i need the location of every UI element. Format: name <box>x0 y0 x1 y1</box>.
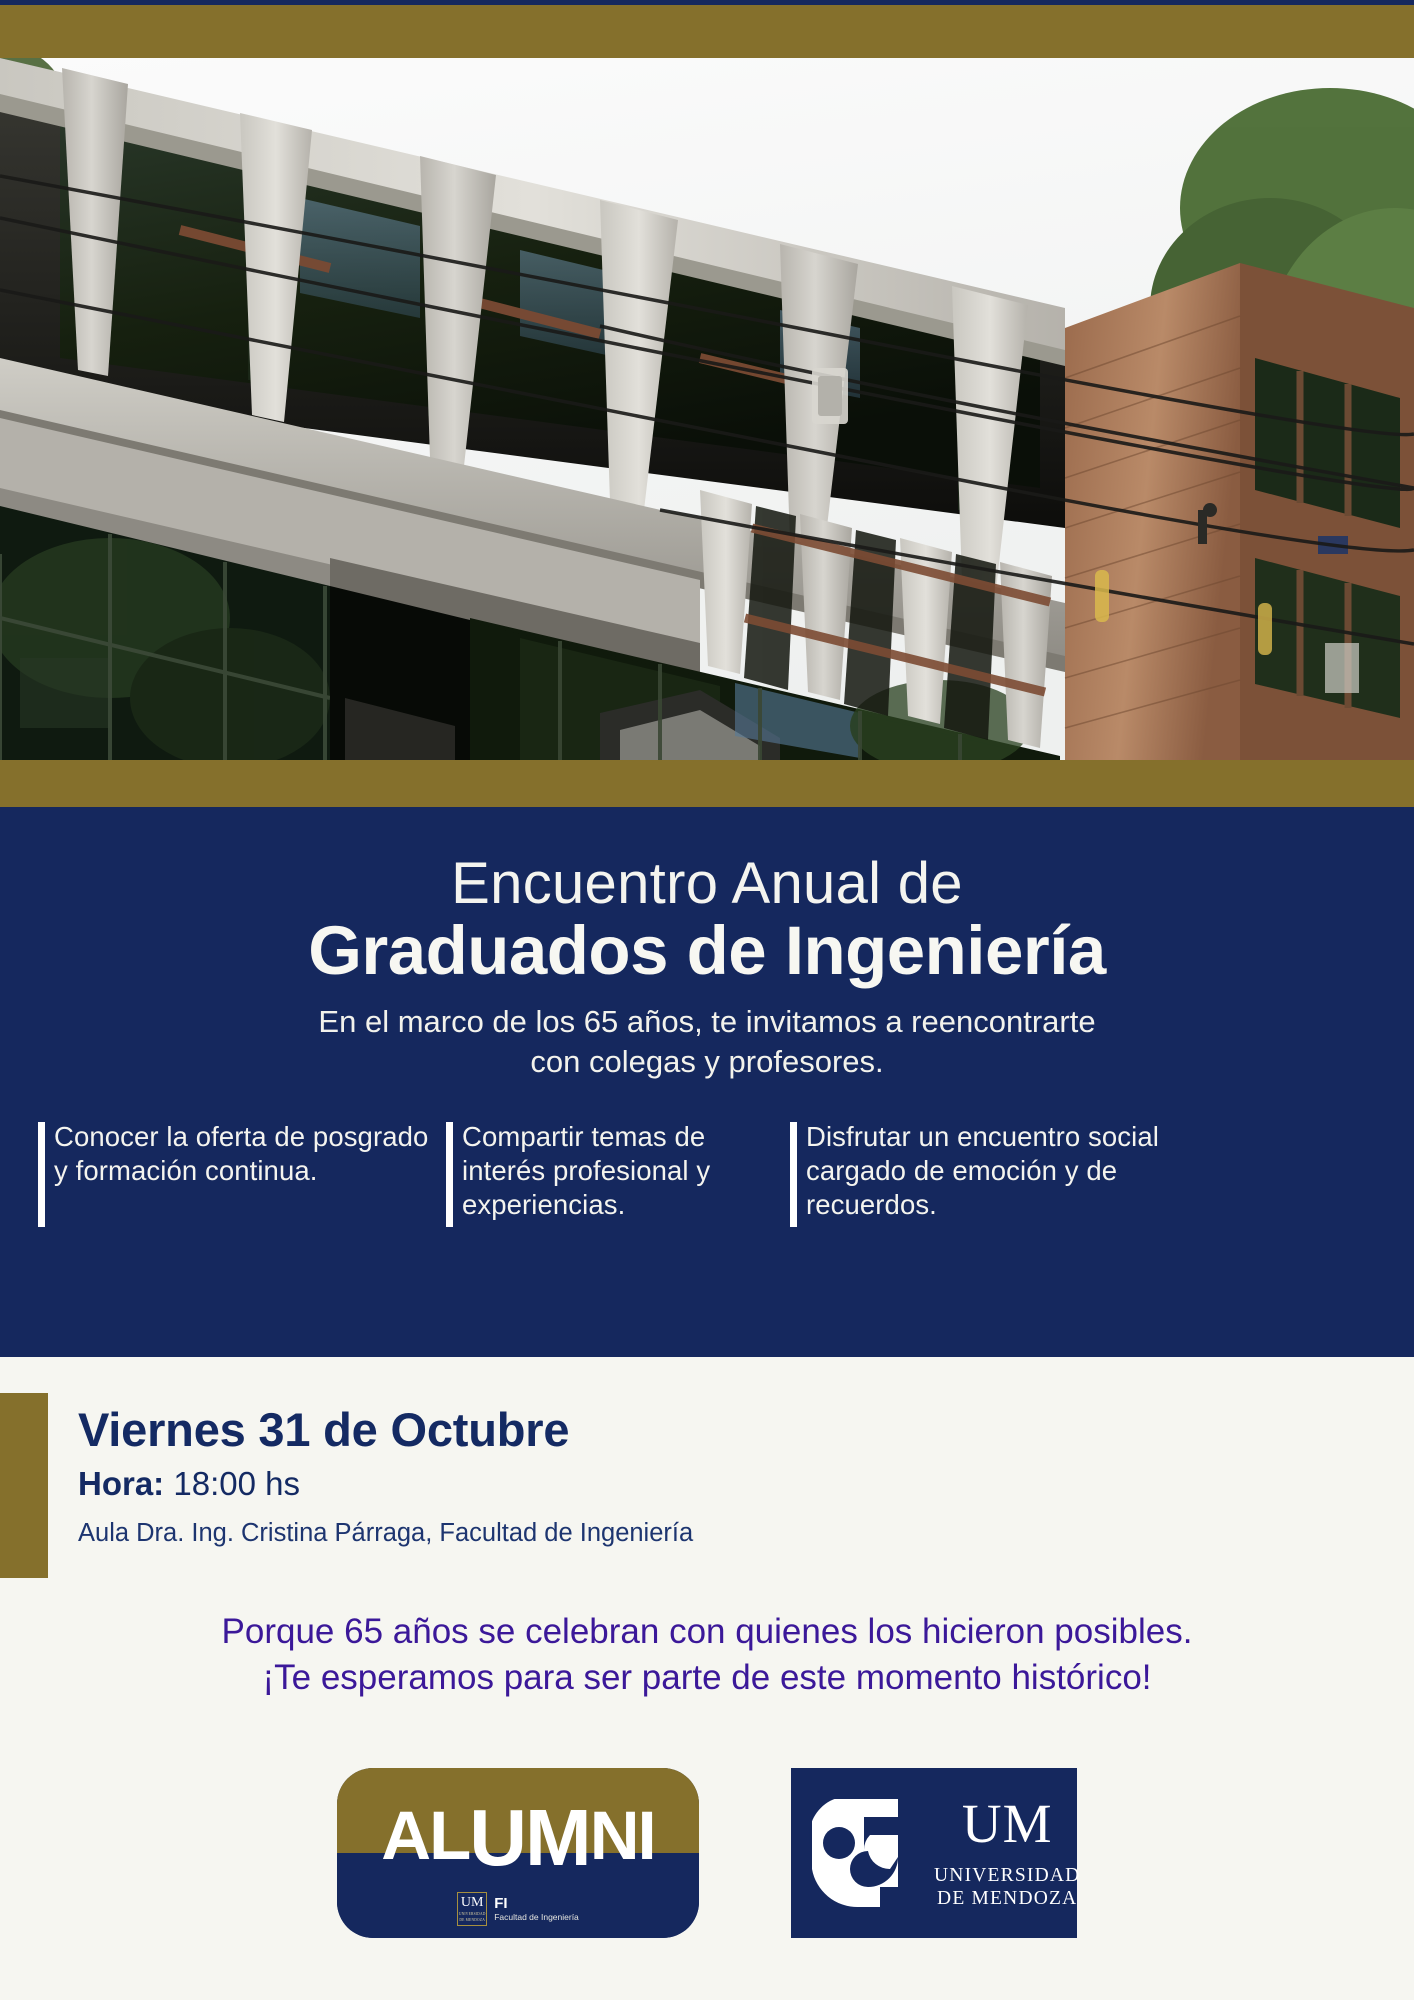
alumni-word-prefix: AL <box>381 1797 469 1874</box>
benefit-item: Conocer la oferta de posgrado y formació… <box>30 1120 438 1222</box>
faculty-block: FI Facultad de Ingeniería <box>494 1896 579 1922</box>
faculty-name: Facultad de Ingeniería <box>494 1912 579 1922</box>
event-time: Hora: 18:00 hs <box>78 1466 300 1502</box>
closing-line2: ¡Te esperamos para ser parte de este mom… <box>0 1655 1414 1701</box>
benefit-text: Conocer la oferta de posgrado y formació… <box>54 1120 438 1188</box>
benefit-rule <box>446 1122 453 1227</box>
bottom-gold-band <box>0 760 1414 807</box>
benefit-item: Compartir temas de interés profesional y… <box>438 1120 782 1222</box>
um-line2: DE MENDOZA <box>934 1888 1080 1910</box>
um-line1: UNIVERSIDAD <box>934 1865 1080 1887</box>
benefit-rule <box>790 1122 797 1227</box>
benefit-rule <box>38 1122 45 1227</box>
benefits-list: Conocer la oferta de posgrado y formació… <box>30 1120 1390 1222</box>
event-time-value: 18:00 hs <box>173 1465 300 1502</box>
benefit-text: Compartir temas de interés profesional y… <box>462 1120 782 1222</box>
page-title: Graduados de Ingeniería <box>0 915 1414 987</box>
anniversary-65-icon <box>806 1791 926 1915</box>
alumni-wordmark: ALUMNI <box>337 1798 699 1878</box>
building-photo <box>0 58 1414 760</box>
benefit-text: Disfrutar un encuentro social cargado de… <box>806 1120 1202 1222</box>
closing-message: Porque 65 años se celebran con quienes l… <box>0 1609 1414 1701</box>
poster-root: Encuentro Anual de Graduados de Ingenier… <box>0 0 1414 2000</box>
um-shield-icon: UM UNIVERSIDAD DE MENDOZA <box>457 1892 487 1926</box>
hero-section: Encuentro Anual de Graduados de Ingenier… <box>0 807 1414 1357</box>
hero-kicker: Encuentro Anual de <box>0 854 1414 915</box>
faculty-abbr: FI <box>494 1896 579 1912</box>
top-gold-band <box>0 5 1414 58</box>
date-accent-bar <box>0 1393 48 1578</box>
hero-subtitle-line1: En el marco de los 65 años, te invitamos… <box>230 1002 1184 1042</box>
universidad-de-mendoza-logo: UM UNIVERSIDAD DE MENDOZA <box>791 1768 1077 1938</box>
logo-row: ALUMNI UM UNIVERSIDAD DE MENDOZA FI Facu… <box>0 1768 1414 1958</box>
event-date: Viernes 31 de Octubre <box>78 1402 569 1457</box>
event-time-label: Hora: <box>78 1465 164 1502</box>
um-shield-line2: DE MENDOZA <box>459 1918 485 1922</box>
event-location: Aula Dra. Ing. Cristina Párraga, Faculta… <box>78 1519 693 1548</box>
alumni-word-mid: UM <box>469 1793 589 1882</box>
um-initials: UM <box>934 1796 1080 1851</box>
hero-subtitle: En el marco de los 65 años, te invitamos… <box>0 1002 1414 1081</box>
alumni-word-suffix: NI <box>590 1797 655 1874</box>
alumni-logo: ALUMNI UM UNIVERSIDAD DE MENDOZA FI Facu… <box>337 1768 699 1938</box>
um-shield-line1: UNIVERSIDAD <box>459 1912 486 1916</box>
benefit-item: Disfrutar un encuentro social cargado de… <box>782 1120 1202 1222</box>
hero-subtitle-line2: con colegas y profesores. <box>230 1042 1184 1082</box>
um-wordmark: UM UNIVERSIDAD DE MENDOZA <box>934 1796 1086 1910</box>
closing-line1: Porque 65 años se celebran con quienes l… <box>0 1609 1414 1655</box>
um-shield-initials: UM <box>461 1896 484 1910</box>
alumni-sublogo: UM UNIVERSIDAD DE MENDOZA FI Facultad de… <box>337 1892 699 1926</box>
